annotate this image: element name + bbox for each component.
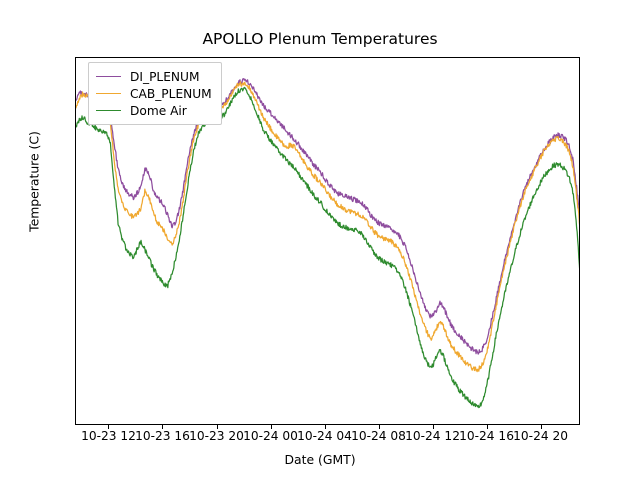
legend-swatch-dome-air <box>96 110 121 111</box>
legend-label-dome-air: Dome Air <box>130 104 187 118</box>
x-tick-label: 10-24 04 <box>297 429 352 443</box>
x-tick-label: 10-23 12 <box>81 429 136 443</box>
y-axis-label: Temperature (C) <box>27 22 42 342</box>
series-line-dome-air <box>76 87 580 407</box>
legend-item-cab-plenum[interactable]: CAB_PLENUM <box>96 85 212 102</box>
series-line-cab-plenum <box>76 82 580 372</box>
x-tick-label: 10-23 16 <box>135 429 190 443</box>
legend-item-di-plenum[interactable]: DI_PLENUM <box>96 68 212 85</box>
page-title: APOLLO Plenum Temperatures <box>0 30 640 48</box>
legend-label-cab-plenum: CAB_PLENUM <box>130 87 212 101</box>
legend-swatch-di-plenum <box>96 76 121 77</box>
x-tick-label: 10-24 00 <box>243 429 298 443</box>
legend-label-di-plenum: DI_PLENUM <box>130 70 199 84</box>
x-tick-label: 10-24 08 <box>351 429 406 443</box>
x-tick-label: 10-24 12 <box>405 429 460 443</box>
legend-item-dome-air[interactable]: Dome Air <box>96 102 212 119</box>
legend: DI_PLENUM CAB_PLENUM Dome Air <box>88 62 222 125</box>
x-axis-label: Date (GMT) <box>0 452 640 467</box>
x-tick-label: 10-23 20 <box>189 429 244 443</box>
x-tick-label: 10-24 20 <box>513 429 568 443</box>
x-tick-label: 10-24 16 <box>459 429 514 443</box>
figure-canvas: APOLLO Plenum Temperatures Temperature (… <box>0 0 640 480</box>
legend-swatch-cab-plenum <box>96 93 121 94</box>
